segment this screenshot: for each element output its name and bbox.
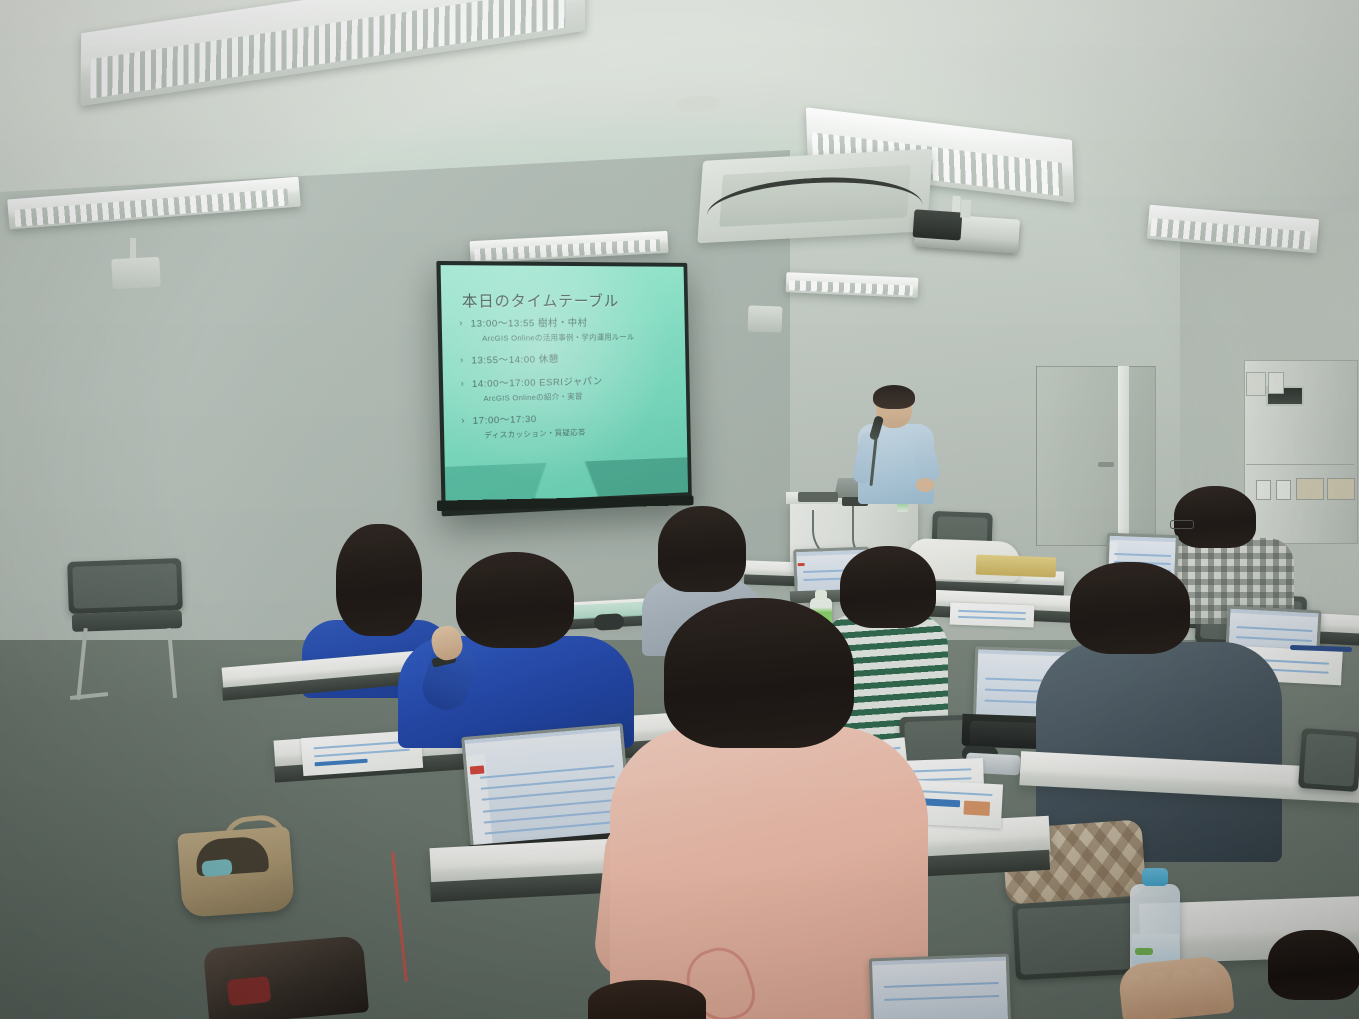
- attendee-pink-blouse: [600, 598, 930, 1018]
- door-handle[interactable]: [1098, 462, 1114, 467]
- presenter-hand: [916, 478, 934, 492]
- backpack: [203, 935, 369, 1019]
- attendee-hair: [1070, 562, 1190, 654]
- door-center-strip: [1118, 366, 1129, 542]
- bag-contents: [201, 859, 232, 878]
- slide-bullet-main: 14:00〜17:00 ESRIジャパン: [472, 375, 677, 391]
- speaker-mount: [130, 238, 136, 260]
- door[interactable]: [1036, 366, 1156, 546]
- empty-chair[interactable]: [67, 558, 183, 614]
- projector: [914, 212, 1020, 253]
- panel-divider: [1246, 464, 1354, 465]
- slide-bullet-sub: ディスカッション・質疑応答: [484, 423, 678, 440]
- slide-title: 本日のタイムテーブル: [462, 290, 620, 312]
- attendee-dark-shirt: [1036, 562, 1284, 862]
- slide-bullet-main: 13:00〜13:55 樹村・中村: [471, 317, 676, 330]
- attendee-hair: [1174, 486, 1256, 548]
- slide-body: 13:00〜13:55 樹村・中村 ArcGIS Onlineの活用事例・学内運…: [459, 317, 678, 452]
- attendee-bottom-center: [588, 980, 708, 1019]
- wall-outlet: [1268, 372, 1284, 394]
- wall-speaker-right: [748, 305, 783, 332]
- panel-switch[interactable]: [1327, 478, 1355, 500]
- podium-equipment: [798, 492, 838, 502]
- empty-chair-seat[interactable]: [72, 610, 183, 632]
- slide-bullet: 14:00〜17:00 ESRIジャパン ArcGIS Onlineの紹介・実習: [461, 375, 677, 405]
- slide-bullet: 17:00〜17:30 ディスカッション・質疑応答: [461, 410, 677, 441]
- projection-screen: 本日のタイムテーブル 13:00〜13:55 樹村・中村 ArcGIS Onli…: [436, 261, 692, 516]
- classroom-photo: 本日のタイムテーブル 13:00〜13:55 樹村・中村 ArcGIS Onli…: [0, 0, 1359, 1019]
- wall-speaker-left: [111, 257, 161, 289]
- attendee-hair: [664, 598, 854, 748]
- slide-bullet-main: 13:55〜14:00 休憩: [471, 352, 676, 367]
- backpack-pocket: [227, 976, 271, 1006]
- attendee-hair: [1268, 930, 1359, 1000]
- chair[interactable]: [1298, 728, 1359, 792]
- panel-switch[interactable]: [1296, 478, 1324, 500]
- attendee-hair: [658, 506, 746, 592]
- slide-bullet-sub: ArcGIS Onlineの活用事例・学内運用ルール: [482, 331, 676, 344]
- glasses-icon: [1170, 520, 1194, 529]
- presenter-hair: [873, 385, 915, 409]
- slide-bullet-sub: ArcGIS Onlineの紹介・実習: [483, 388, 677, 404]
- screen-surface: 本日のタイムテーブル 13:00〜13:55 樹村・中村 ArcGIS Onli…: [441, 265, 689, 504]
- laptop-screen[interactable]: [869, 954, 1011, 1019]
- slide-bullet-main: 17:00〜17:30: [473, 410, 678, 428]
- handout: [950, 603, 1035, 628]
- attendee-bottom-right: [1258, 930, 1359, 1019]
- slide-bullet: 13:00〜13:55 樹村・中村 ArcGIS Onlineの活用事例・学内運…: [459, 317, 676, 344]
- slide-bullet: 13:55〜14:00 休憩: [460, 352, 676, 367]
- attendee-hair: [456, 552, 574, 648]
- attendee-hair: [588, 980, 706, 1019]
- wall-outlet: [1246, 372, 1266, 396]
- presenter: [852, 388, 944, 504]
